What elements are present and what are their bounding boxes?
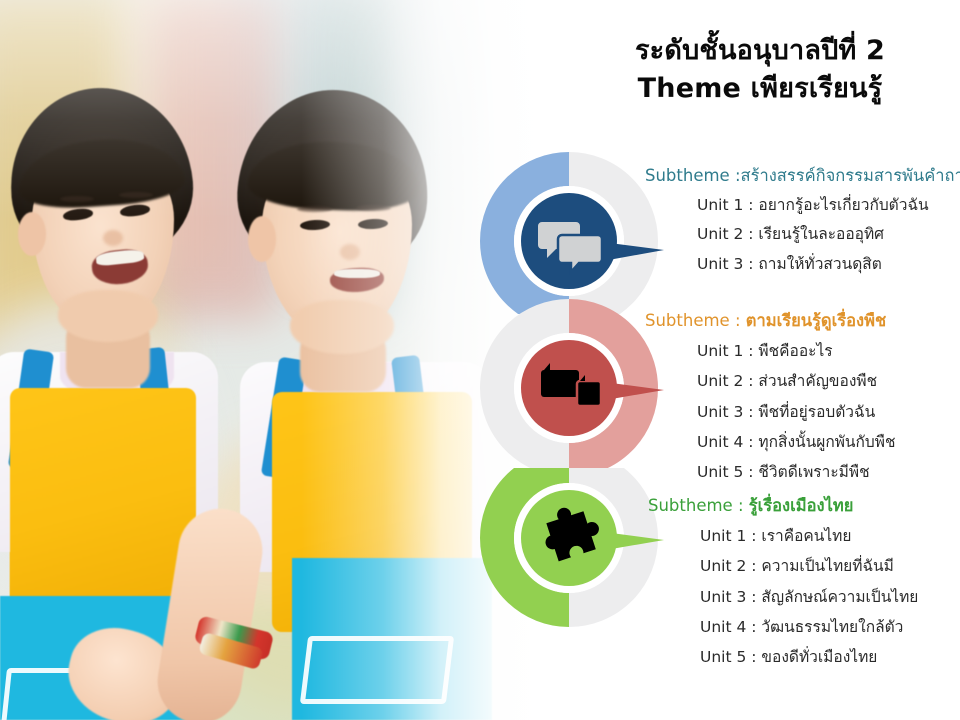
unit-item: Unit 5 : ชีวิตดีเพราะมีพืช — [645, 463, 895, 482]
subtheme-heading-2: Subtheme : ตามเรียนรู้ดูเรื่องพืช — [645, 311, 895, 331]
unit-item: Unit 5 : ของดีทั่วเมืองไทย — [648, 648, 918, 667]
unit-item: Unit 3 : สัญลักษณ์ความเป็นไทย — [648, 588, 918, 607]
unit-item: Unit 1 : พืชคืออะไร — [645, 342, 895, 361]
unit-item: Unit 1 : อยากรู้อะไรเกี่ยวกับตัวฉัน — [645, 196, 960, 215]
subtheme-chain-graphic — [474, 138, 664, 668]
subtheme-group-1: Subtheme :สร้างสรรค์กิจกรรมสารพันคำถาม U… — [645, 166, 960, 274]
unit-item: Unit 2 : เรียนรู้ในละอออุทิศ — [645, 225, 960, 244]
unit-item: Unit 1 : เราคือคนไทย — [648, 527, 918, 546]
unit-item: Unit 4 : ทุกสิ่งนั้นผูกพันกับพืช — [645, 433, 895, 452]
title-line-1: ระดับชั้นอนุบาลปีที่ 2 — [560, 32, 960, 70]
unit-item: Unit 3 : พืชที่อยู่รอบตัวฉัน — [645, 403, 895, 422]
subtheme-label-2: Subtheme : — [645, 311, 741, 330]
subtheme-label-1: Subtheme : — [645, 166, 741, 185]
subtheme-heading-1: Subtheme :สร้างสรรค์กิจกรรมสารพันคำถาม — [645, 166, 960, 186]
unit-item: Unit 3 : ถามให้ทั่วสวนดุสิต — [645, 255, 960, 274]
subtheme-label-3: Subtheme : — [648, 496, 744, 515]
subtheme-group-2: Subtheme : ตามเรียนรู้ดูเรื่องพืช Unit 1… — [645, 311, 895, 483]
page-title: ระดับชั้นอนุบาลปีที่ 2 Theme เพียรเรียนร… — [560, 32, 960, 109]
unit-item: Unit 2 : ความเป็นไทยที่ฉันมี — [648, 557, 918, 576]
title-line-2: Theme เพียรเรียนรู้ — [560, 70, 960, 108]
subtheme-group-3: Subtheme : รู้เรื่องเมืองไทย Unit 1 : เร… — [648, 496, 918, 668]
subtheme-title-3: รู้เรื่องเมืองไทย — [749, 496, 854, 515]
subtheme-title-1: สร้างสรรค์กิจกรรมสารพันคำถาม — [741, 166, 960, 185]
unit-item: Unit 4 : วัฒนธรรมไทยใกล้ตัว — [648, 618, 918, 637]
subtheme-title-2: ตามเรียนรู้ดูเรื่องพืช — [746, 311, 886, 330]
subtheme-heading-3: Subtheme : รู้เรื่องเมืองไทย — [648, 496, 918, 516]
slide-root: ระดับชั้นอนุบาลปีที่ 2 Theme เพียรเรียนร… — [0, 0, 960, 720]
unit-item: Unit 2 : ส่วนสำคัญของพืช — [645, 372, 895, 391]
